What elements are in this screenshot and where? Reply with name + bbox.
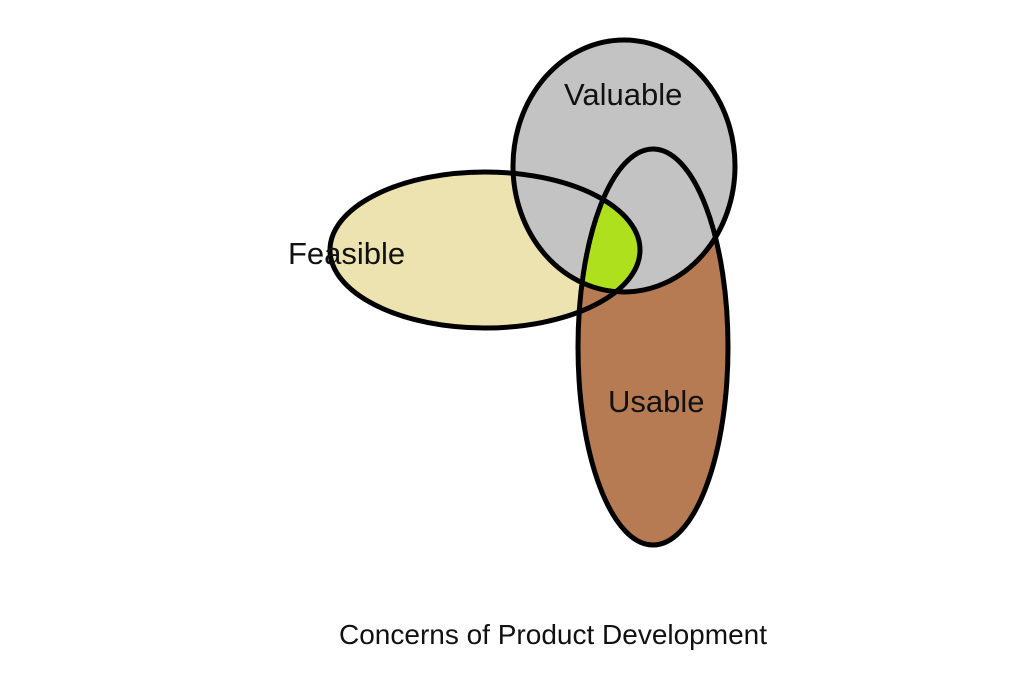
valuable-label: Valuable xyxy=(564,77,682,112)
venn-diagram: Valuable Feasible Usable Concerns of Pro… xyxy=(0,0,1015,682)
venn-diagram-stage: Valuable Feasible Usable Concerns of Pro… xyxy=(0,0,1015,682)
diagram-background xyxy=(0,0,1015,682)
diagram-caption: Concerns of Product Development xyxy=(339,619,767,650)
usable-label: Usable xyxy=(608,384,705,419)
feasible-label: Feasible xyxy=(288,236,405,271)
